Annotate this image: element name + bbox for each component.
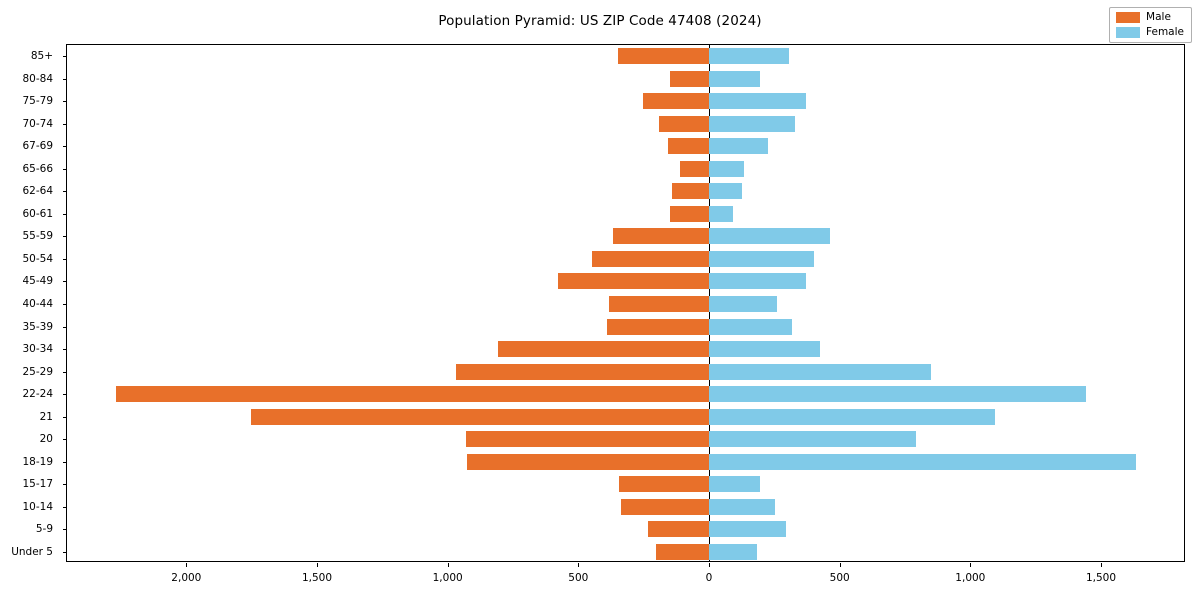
x-tick-mark <box>578 563 579 567</box>
y-tick-mark <box>63 349 67 350</box>
y-tick-mark <box>63 124 67 125</box>
y-tick-mark <box>63 281 67 282</box>
y-tick-label-65-66: 65-66 <box>22 164 53 174</box>
bar-male-18-19 <box>467 454 709 470</box>
y-tick-mark <box>63 552 67 553</box>
figure-canvas: Population Pyramid: US ZIP Code 47408 (2… <box>0 0 1200 600</box>
y-tick-mark <box>63 327 67 328</box>
bar-female-35-39 <box>709 319 792 335</box>
legend-item-male[interactable]: Male <box>1116 12 1184 23</box>
y-tick-mark <box>63 507 67 508</box>
bar-male-40-44 <box>609 296 709 312</box>
legend-swatch-female <box>1116 27 1140 38</box>
y-tick-label-35-39: 35-39 <box>22 322 53 332</box>
y-tick-mark <box>63 484 67 485</box>
chart-legend[interactable]: MaleFemale <box>1109 7 1192 43</box>
y-tick-mark <box>63 79 67 80</box>
x-tick-label-6: 1,000 <box>955 572 985 584</box>
bar-female-65-66 <box>709 161 744 177</box>
bar-female-5-9 <box>709 521 786 537</box>
bar-male-67-69 <box>668 138 709 154</box>
y-tick-label-under-5: Under 5 <box>11 547 53 557</box>
bar-male-22-24 <box>116 386 709 402</box>
bar-female-10-14 <box>709 499 775 515</box>
y-tick-mark <box>63 191 67 192</box>
bar-male-60-61 <box>670 206 709 222</box>
bar-female-40-44 <box>709 296 777 312</box>
bar-female-62-64 <box>709 183 742 199</box>
x-tick-mark <box>448 563 449 567</box>
plot-area: 85+80-8475-7970-7467-6965-6662-6460-6155… <box>66 44 1185 562</box>
y-tick-label-18-19: 18-19 <box>22 457 53 467</box>
bar-male-21 <box>251 409 709 425</box>
bar-male-50-54 <box>592 251 709 267</box>
y-tick-mark <box>63 146 67 147</box>
bar-female-15-17 <box>709 476 760 492</box>
y-tick-label-40-44: 40-44 <box>22 299 53 309</box>
y-tick-mark <box>63 462 67 463</box>
bar-female-22-24 <box>709 386 1086 402</box>
x-tick-mark <box>1101 563 1102 567</box>
y-tick-mark <box>63 529 67 530</box>
legend-label-female: Female <box>1146 27 1184 38</box>
legend-swatch-male <box>1116 12 1140 23</box>
bar-male-85- <box>618 48 709 64</box>
y-tick-mark <box>63 56 67 57</box>
bar-male-55-59 <box>613 228 709 244</box>
page-title: Population Pyramid: US ZIP Code 47408 (2… <box>0 13 1200 29</box>
x-tick-label-2: 1,000 <box>433 572 463 584</box>
y-tick-mark <box>63 169 67 170</box>
y-tick-mark <box>63 259 67 260</box>
y-tick-label-30-34: 30-34 <box>22 344 53 354</box>
y-tick-label-45-49: 45-49 <box>22 276 53 286</box>
bar-female-67-69 <box>709 138 768 154</box>
x-tick-label-1: 1,500 <box>302 572 332 584</box>
y-tick-label-15-17: 15-17 <box>22 479 53 489</box>
legend-label-male: Male <box>1146 12 1171 23</box>
y-tick-label-80-84: 80-84 <box>22 74 53 84</box>
y-tick-label-25-29: 25-29 <box>22 367 53 377</box>
bar-male-25-29 <box>456 364 709 380</box>
bar-female-75-79 <box>709 93 806 109</box>
bar-female-under-5 <box>709 544 757 560</box>
bar-male-20 <box>466 431 709 447</box>
y-tick-mark <box>63 101 67 102</box>
y-tick-label-20: 20 <box>40 434 53 444</box>
bar-male-80-84 <box>670 71 709 87</box>
x-tick-mark <box>186 563 187 567</box>
bar-male-65-66 <box>680 161 709 177</box>
bar-male-10-14 <box>621 499 709 515</box>
y-tick-label-5-9: 5-9 <box>36 524 53 534</box>
y-tick-label-62-64: 62-64 <box>22 186 53 196</box>
y-tick-mark <box>63 439 67 440</box>
y-tick-label-21: 21 <box>40 412 53 422</box>
bar-male-75-79 <box>643 93 709 109</box>
bar-female-30-34 <box>709 341 820 357</box>
x-tick-label-5: 500 <box>830 572 850 584</box>
bar-female-21 <box>709 409 995 425</box>
y-tick-label-67-69: 67-69 <box>22 141 53 151</box>
bar-male-70-74 <box>659 116 709 132</box>
x-tick-mark <box>840 563 841 567</box>
bar-female-55-59 <box>709 228 830 244</box>
x-tick-mark <box>970 563 971 567</box>
bar-male-5-9 <box>648 521 709 537</box>
bar-female-60-61 <box>709 206 733 222</box>
y-tick-mark <box>63 372 67 373</box>
bar-male-62-64 <box>672 183 709 199</box>
bar-male-30-34 <box>498 341 709 357</box>
x-tick-label-7: 1,500 <box>1086 572 1116 584</box>
y-tick-label-10-14: 10-14 <box>22 502 53 512</box>
y-tick-mark <box>63 394 67 395</box>
bar-female-70-74 <box>709 116 795 132</box>
x-tick-label-0: 2,000 <box>171 572 201 584</box>
bar-male-15-17 <box>619 476 709 492</box>
x-tick-mark <box>317 563 318 567</box>
y-tick-mark <box>63 417 67 418</box>
bar-female-85- <box>709 48 789 64</box>
bar-female-25-29 <box>709 364 931 380</box>
bar-female-18-19 <box>709 454 1136 470</box>
y-tick-label-75-79: 75-79 <box>22 96 53 106</box>
y-tick-label-22-24: 22-24 <box>22 389 53 399</box>
bar-male-under-5 <box>656 544 709 560</box>
y-tick-label-60-61: 60-61 <box>22 209 53 219</box>
bar-male-35-39 <box>607 319 709 335</box>
y-tick-mark <box>63 236 67 237</box>
y-tick-mark <box>63 214 67 215</box>
y-tick-label-50-54: 50-54 <box>22 254 53 264</box>
y-tick-label-55-59: 55-59 <box>22 231 53 241</box>
bar-female-45-49 <box>709 273 806 289</box>
y-tick-label-70-74: 70-74 <box>22 119 53 129</box>
x-tick-mark <box>709 563 710 567</box>
bar-female-80-84 <box>709 71 760 87</box>
y-tick-mark <box>63 304 67 305</box>
x-tick-label-4: 0 <box>706 572 713 584</box>
bar-male-45-49 <box>558 273 709 289</box>
bar-female-20 <box>709 431 916 447</box>
x-tick-label-3: 500 <box>568 572 588 584</box>
y-tick-label-85-: 85+ <box>31 51 53 61</box>
bar-female-50-54 <box>709 251 814 267</box>
legend-item-female[interactable]: Female <box>1116 27 1184 38</box>
